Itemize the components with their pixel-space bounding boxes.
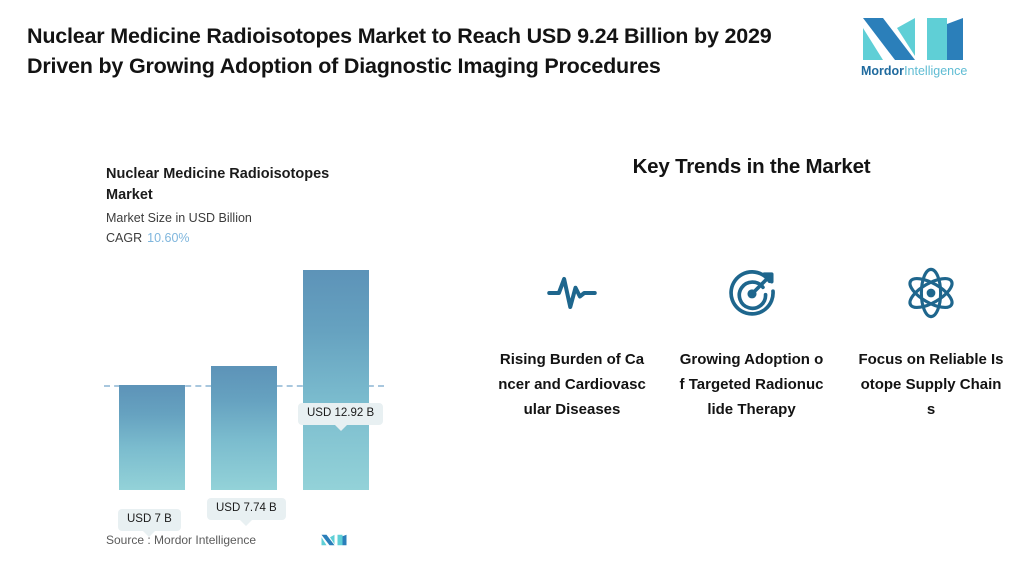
bar-2026 [211,366,277,490]
bar-value-label-2025: USD 7 B [118,509,181,531]
trend-card-rising-burden: Rising Burden of Cancer and Cardiovascul… [490,265,654,422]
mordor-intelligence-logo: MordorIntelligence [861,16,965,82]
market-size-chart-panel: Nuclear Medicine Radioisotopes Market Ma… [0,150,470,570]
page-title: Nuclear Medicine Radioisotopes Market to… [27,21,827,81]
trend-card-label: Growing Adoption of Targeted Radionuclid… [678,347,826,422]
atom-icon [903,265,959,321]
trend-card-targeted-therapy: Growing Adoption of Targeted Radionuclid… [670,265,834,422]
bar-value-label-2026: USD 7.74 B [207,498,286,520]
brand-name-bold: Mordor [861,64,904,78]
trend-card-label: Rising Burden of Cancer and Cardiovascul… [498,347,646,422]
trend-card-isotope-supply: Focus on Reliable Isotope Supply Chains [849,265,1013,422]
infographic-page: Nuclear Medicine Radioisotopes Market to… [0,0,1033,570]
chart-source: Source : Mordor Intelligence [106,532,347,548]
trend-card-label: Focus on Reliable Isotope Supply Chains [857,347,1005,422]
key-trends-card-list: Rising Burden of Cancer and Cardiovascul… [490,265,1013,545]
brand-wordmark: MordorIntelligence [861,64,965,78]
mordor-logo-mark-icon [861,16,965,62]
bar-2025 [119,385,185,490]
bar-value-label-2031: USD 12.92 B [298,403,383,425]
target-arrow-icon [724,265,780,321]
brand-name-light: Intelligence [904,64,967,78]
bar-2031 [303,270,369,490]
source-label: Source : Mordor Intelligence [106,533,256,547]
key-trends-heading: Key Trends in the Market [470,155,1033,179]
heartbeat-pulse-icon [544,265,600,321]
bar-chart-plot-area: USD 7 B USD 7.74 B USD 12.92 B 2025 2026… [0,150,470,570]
key-trends-panel: Key Trends in the Market Rising Burden o… [470,140,1033,570]
source-logo-mark-icon [321,532,347,548]
